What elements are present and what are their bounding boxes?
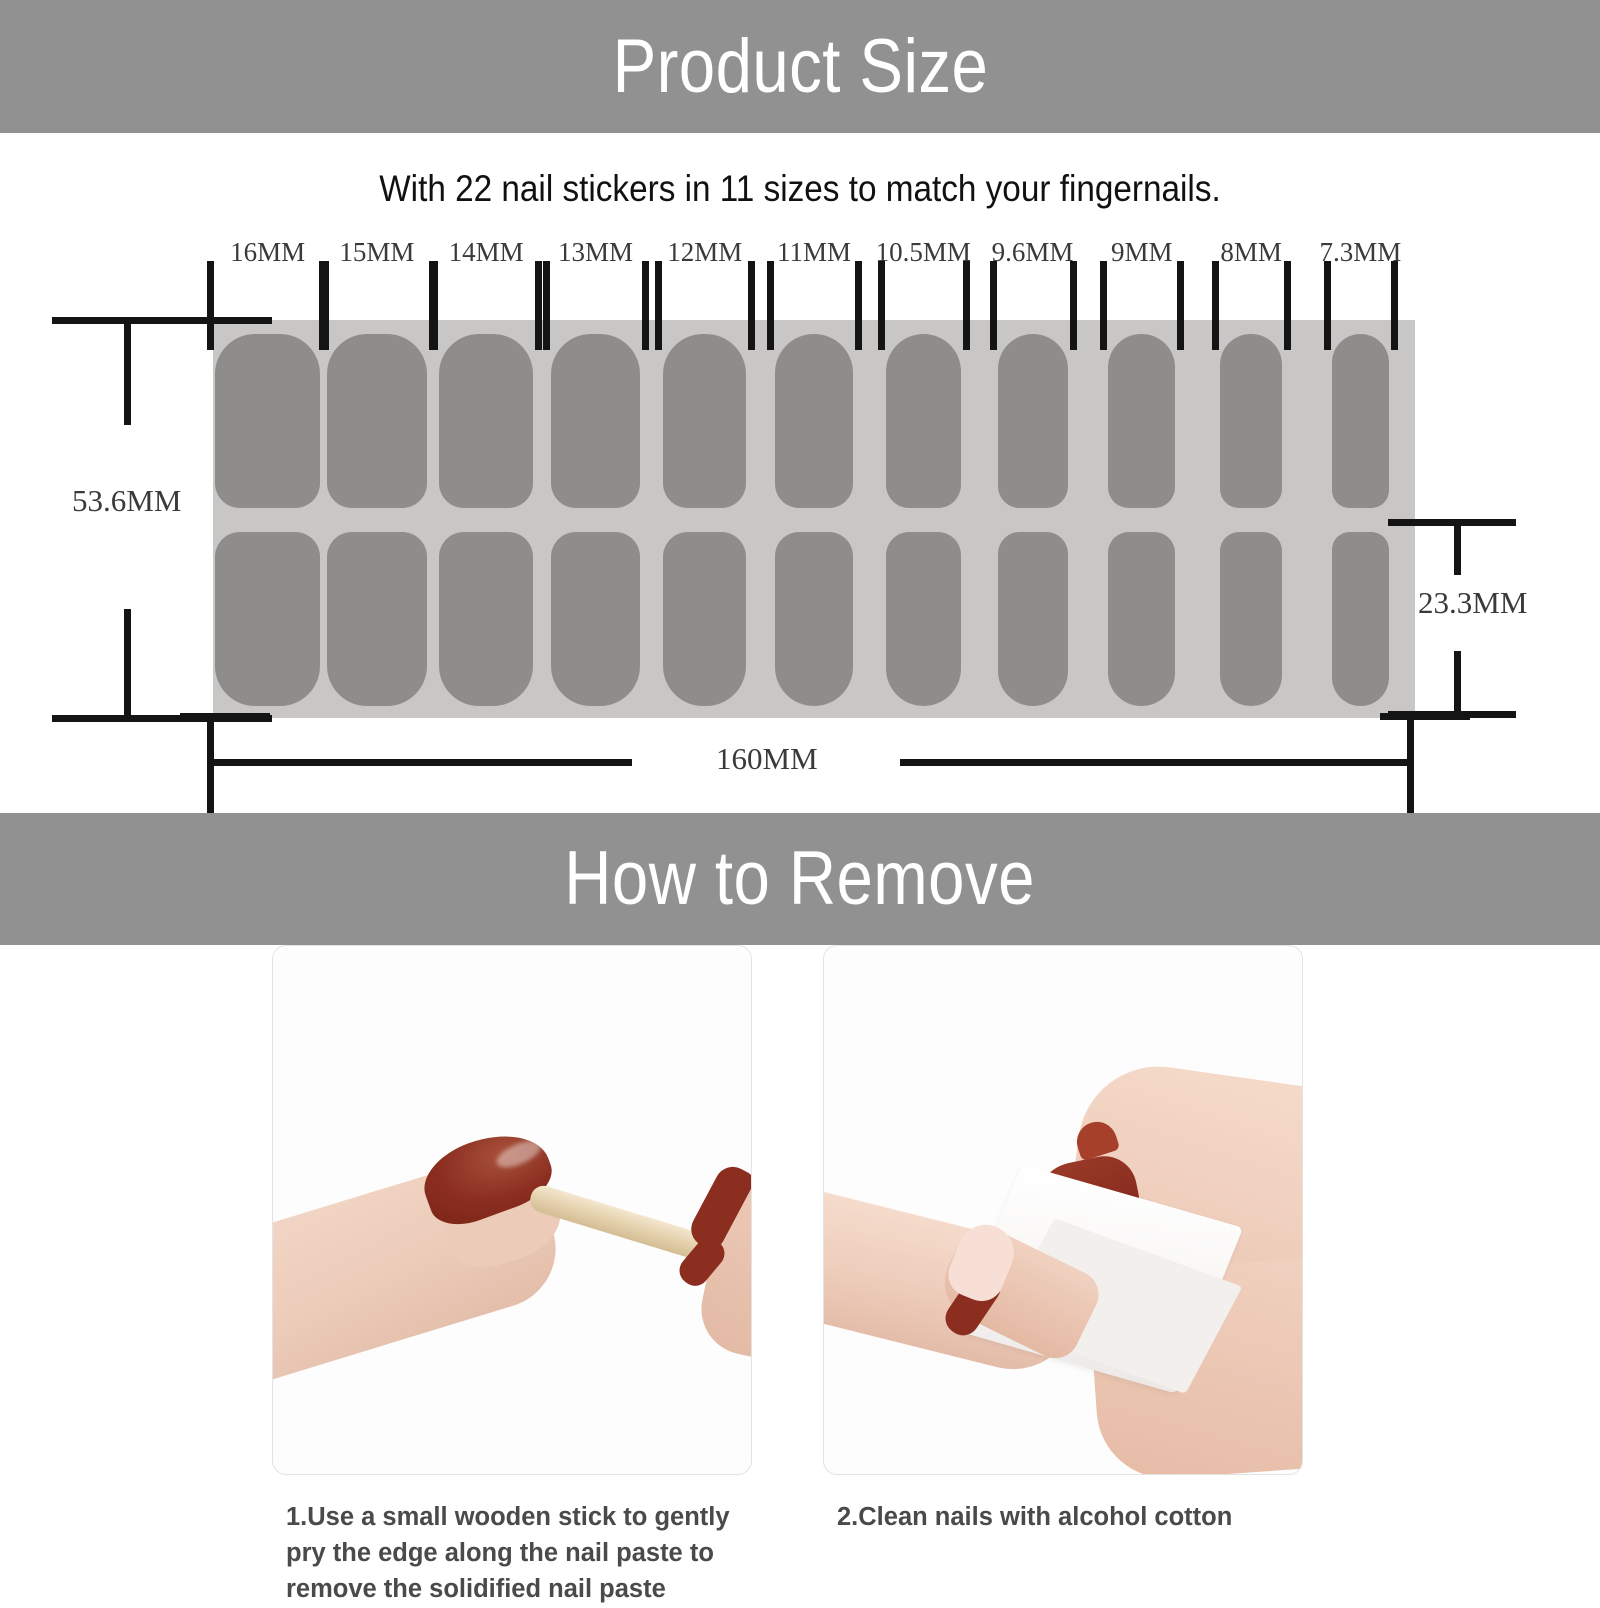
size-tick <box>207 261 214 350</box>
removal-steps: 1.Use a small wooden stick to gently pry… <box>0 945 1600 1600</box>
size-tick <box>1100 261 1107 350</box>
sticker-column <box>1220 320 1281 718</box>
size-tick <box>543 261 550 350</box>
nail-sticker[interactable] <box>1220 532 1281 706</box>
size-tick <box>748 261 755 350</box>
size-tick <box>1284 261 1291 350</box>
nail-sticker[interactable] <box>439 532 533 706</box>
size-tick <box>642 261 649 350</box>
size-tick <box>535 261 542 350</box>
sticker-column <box>998 320 1068 718</box>
dimension-width-line-left <box>207 759 632 766</box>
nail-sticker[interactable] <box>775 334 853 508</box>
nail-sticker[interactable] <box>886 532 961 706</box>
dimension-width-label: 160MM <box>716 741 818 777</box>
how-to-remove-banner: How to Remove <box>0 813 1600 945</box>
sticker-column <box>327 320 426 718</box>
size-diagram: 16MM15MM14MM13MM12MM11MM10.5MM9.6MM9MM8M… <box>0 133 1600 813</box>
removal-step-2: 2.Clean nails with alcohol cotton <box>823 945 1303 1535</box>
sticker-column <box>551 320 640 718</box>
sticker-column <box>215 320 320 718</box>
size-tick <box>1391 261 1398 350</box>
nail-sticker[interactable] <box>1108 334 1175 508</box>
sticker-column <box>663 320 746 718</box>
nail-sticker[interactable] <box>327 334 426 508</box>
removal-step-2-caption: 2.Clean nails with alcohol cotton <box>823 1499 1303 1535</box>
sticker-column <box>886 320 961 718</box>
size-tick <box>319 261 326 350</box>
nail-sticker[interactable] <box>327 532 426 706</box>
dimension-height-label: 53.6MM <box>72 483 181 519</box>
nail-sticker[interactable] <box>1220 334 1281 508</box>
removal-step-1: 1.Use a small wooden stick to gently pry… <box>272 945 752 1608</box>
dimension-sticker-arrow-upper <box>1454 519 1461 575</box>
dimension-width-left-tick <box>180 713 270 720</box>
size-tick <box>1070 261 1077 350</box>
dimension-width-left-extension <box>207 715 214 823</box>
size-label-7-3mm: 7.3MM <box>1285 237 1435 268</box>
size-tick <box>655 261 662 350</box>
nail-sticker[interactable] <box>551 334 640 508</box>
dimension-width-line-right <box>900 759 1410 766</box>
size-tick <box>990 261 997 350</box>
nail-sticker[interactable] <box>1332 334 1389 508</box>
dimension-sticker-bottom-extension <box>1388 711 1516 718</box>
dimension-height-arrow-lower <box>124 609 131 722</box>
removal-step-2-photo <box>823 945 1303 1475</box>
size-tick <box>431 261 438 350</box>
size-tick <box>855 261 862 350</box>
nail-sticker[interactable] <box>663 532 746 706</box>
sticker-column <box>775 320 853 718</box>
size-tick <box>1324 261 1331 350</box>
sticker-column <box>1108 320 1175 718</box>
nail-sticker[interactable] <box>775 532 853 706</box>
nail-sticker[interactable] <box>215 334 320 508</box>
nail-sticker[interactable] <box>551 532 640 706</box>
nail-sticker[interactable] <box>1108 532 1175 706</box>
nail-sticker[interactable] <box>215 532 320 706</box>
size-tick <box>767 261 774 350</box>
sticker-column <box>1332 320 1389 718</box>
size-tick <box>1212 261 1219 350</box>
product-size-banner: Product Size <box>0 0 1600 133</box>
sticker-column <box>439 320 533 718</box>
dimension-height-arrow-upper <box>124 317 131 425</box>
size-tick <box>963 261 970 350</box>
size-tick <box>878 261 885 350</box>
size-tick <box>1177 261 1184 350</box>
dimension-sticker-top-extension <box>1388 519 1516 526</box>
nail-sticker[interactable] <box>998 532 1068 706</box>
nail-sticker[interactable] <box>663 334 746 508</box>
dimension-sticker-arrow-lower <box>1454 651 1461 713</box>
nail-sticker-sheet <box>213 320 1415 718</box>
removal-step-1-caption: 1.Use a small wooden stick to gently pry… <box>272 1499 752 1608</box>
dimension-height-top-extension <box>52 317 272 324</box>
how-to-remove-banner-title: How to Remove <box>565 841 1036 917</box>
nail-sticker[interactable] <box>1332 532 1389 706</box>
nail-sticker[interactable] <box>439 334 533 508</box>
dimension-sticker-height-label: 23.3MM <box>1418 585 1527 621</box>
nail-sticker[interactable] <box>998 334 1068 508</box>
removal-step-1-photo <box>272 945 752 1475</box>
dimension-width-right-extension <box>1407 715 1414 823</box>
product-size-banner-title: Product Size <box>612 29 988 105</box>
nail-sticker[interactable] <box>886 334 961 508</box>
